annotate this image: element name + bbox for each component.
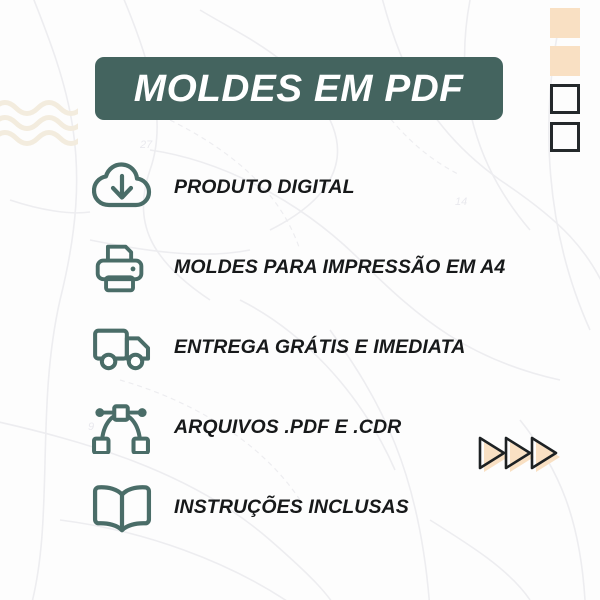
delivery-truck-icon [88, 319, 160, 377]
feature-row-arquivos: ARQUIVOS .PDF E .CDR [88, 388, 588, 468]
feature-row-produto-digital: PRODUTO DIGITAL [88, 148, 588, 228]
square-filled-1 [550, 8, 580, 38]
feature-label-produto-digital: PRODUTO DIGITAL [160, 178, 355, 198]
cloud-download-icon [88, 159, 160, 217]
page-title: MOLDES EM PDF [134, 70, 464, 108]
feature-row-entrega-gratis: ENTREGA GRÁTIS E IMEDIATA [88, 308, 588, 388]
feature-label-instrucoes: INSTRUÇÕES INCLUSAS [160, 498, 409, 518]
feature-label-arquivos: ARQUIVOS .PDF E .CDR [160, 418, 401, 438]
feature-label-impressao-a4: MOLDES PARA IMPRESSÃO EM A4 [160, 258, 505, 278]
feature-row-instrucoes: INSTRUÇÕES INCLUSAS [88, 468, 588, 548]
open-book-icon [88, 479, 160, 537]
promo-graphic-canvas: 27 14 9 MOLDES EM PDF [0, 0, 600, 600]
square-filled-2 [550, 46, 580, 76]
printer-icon [88, 239, 160, 297]
wavy-lines-decoration [0, 96, 78, 150]
feature-list: PRODUTO DIGITAL MOLDES PARA IMPRESSÃO EM… [88, 148, 588, 548]
feature-row-impressao-a4: MOLDES PARA IMPRESSÃO EM A4 [88, 228, 588, 308]
square-stack-decoration [550, 8, 586, 152]
feature-label-entrega-gratis: ENTREGA GRÁTIS E IMEDIATA [160, 338, 465, 358]
square-outline-1 [550, 84, 580, 114]
bezier-curve-icon [88, 399, 160, 457]
title-banner: MOLDES EM PDF [95, 57, 503, 120]
